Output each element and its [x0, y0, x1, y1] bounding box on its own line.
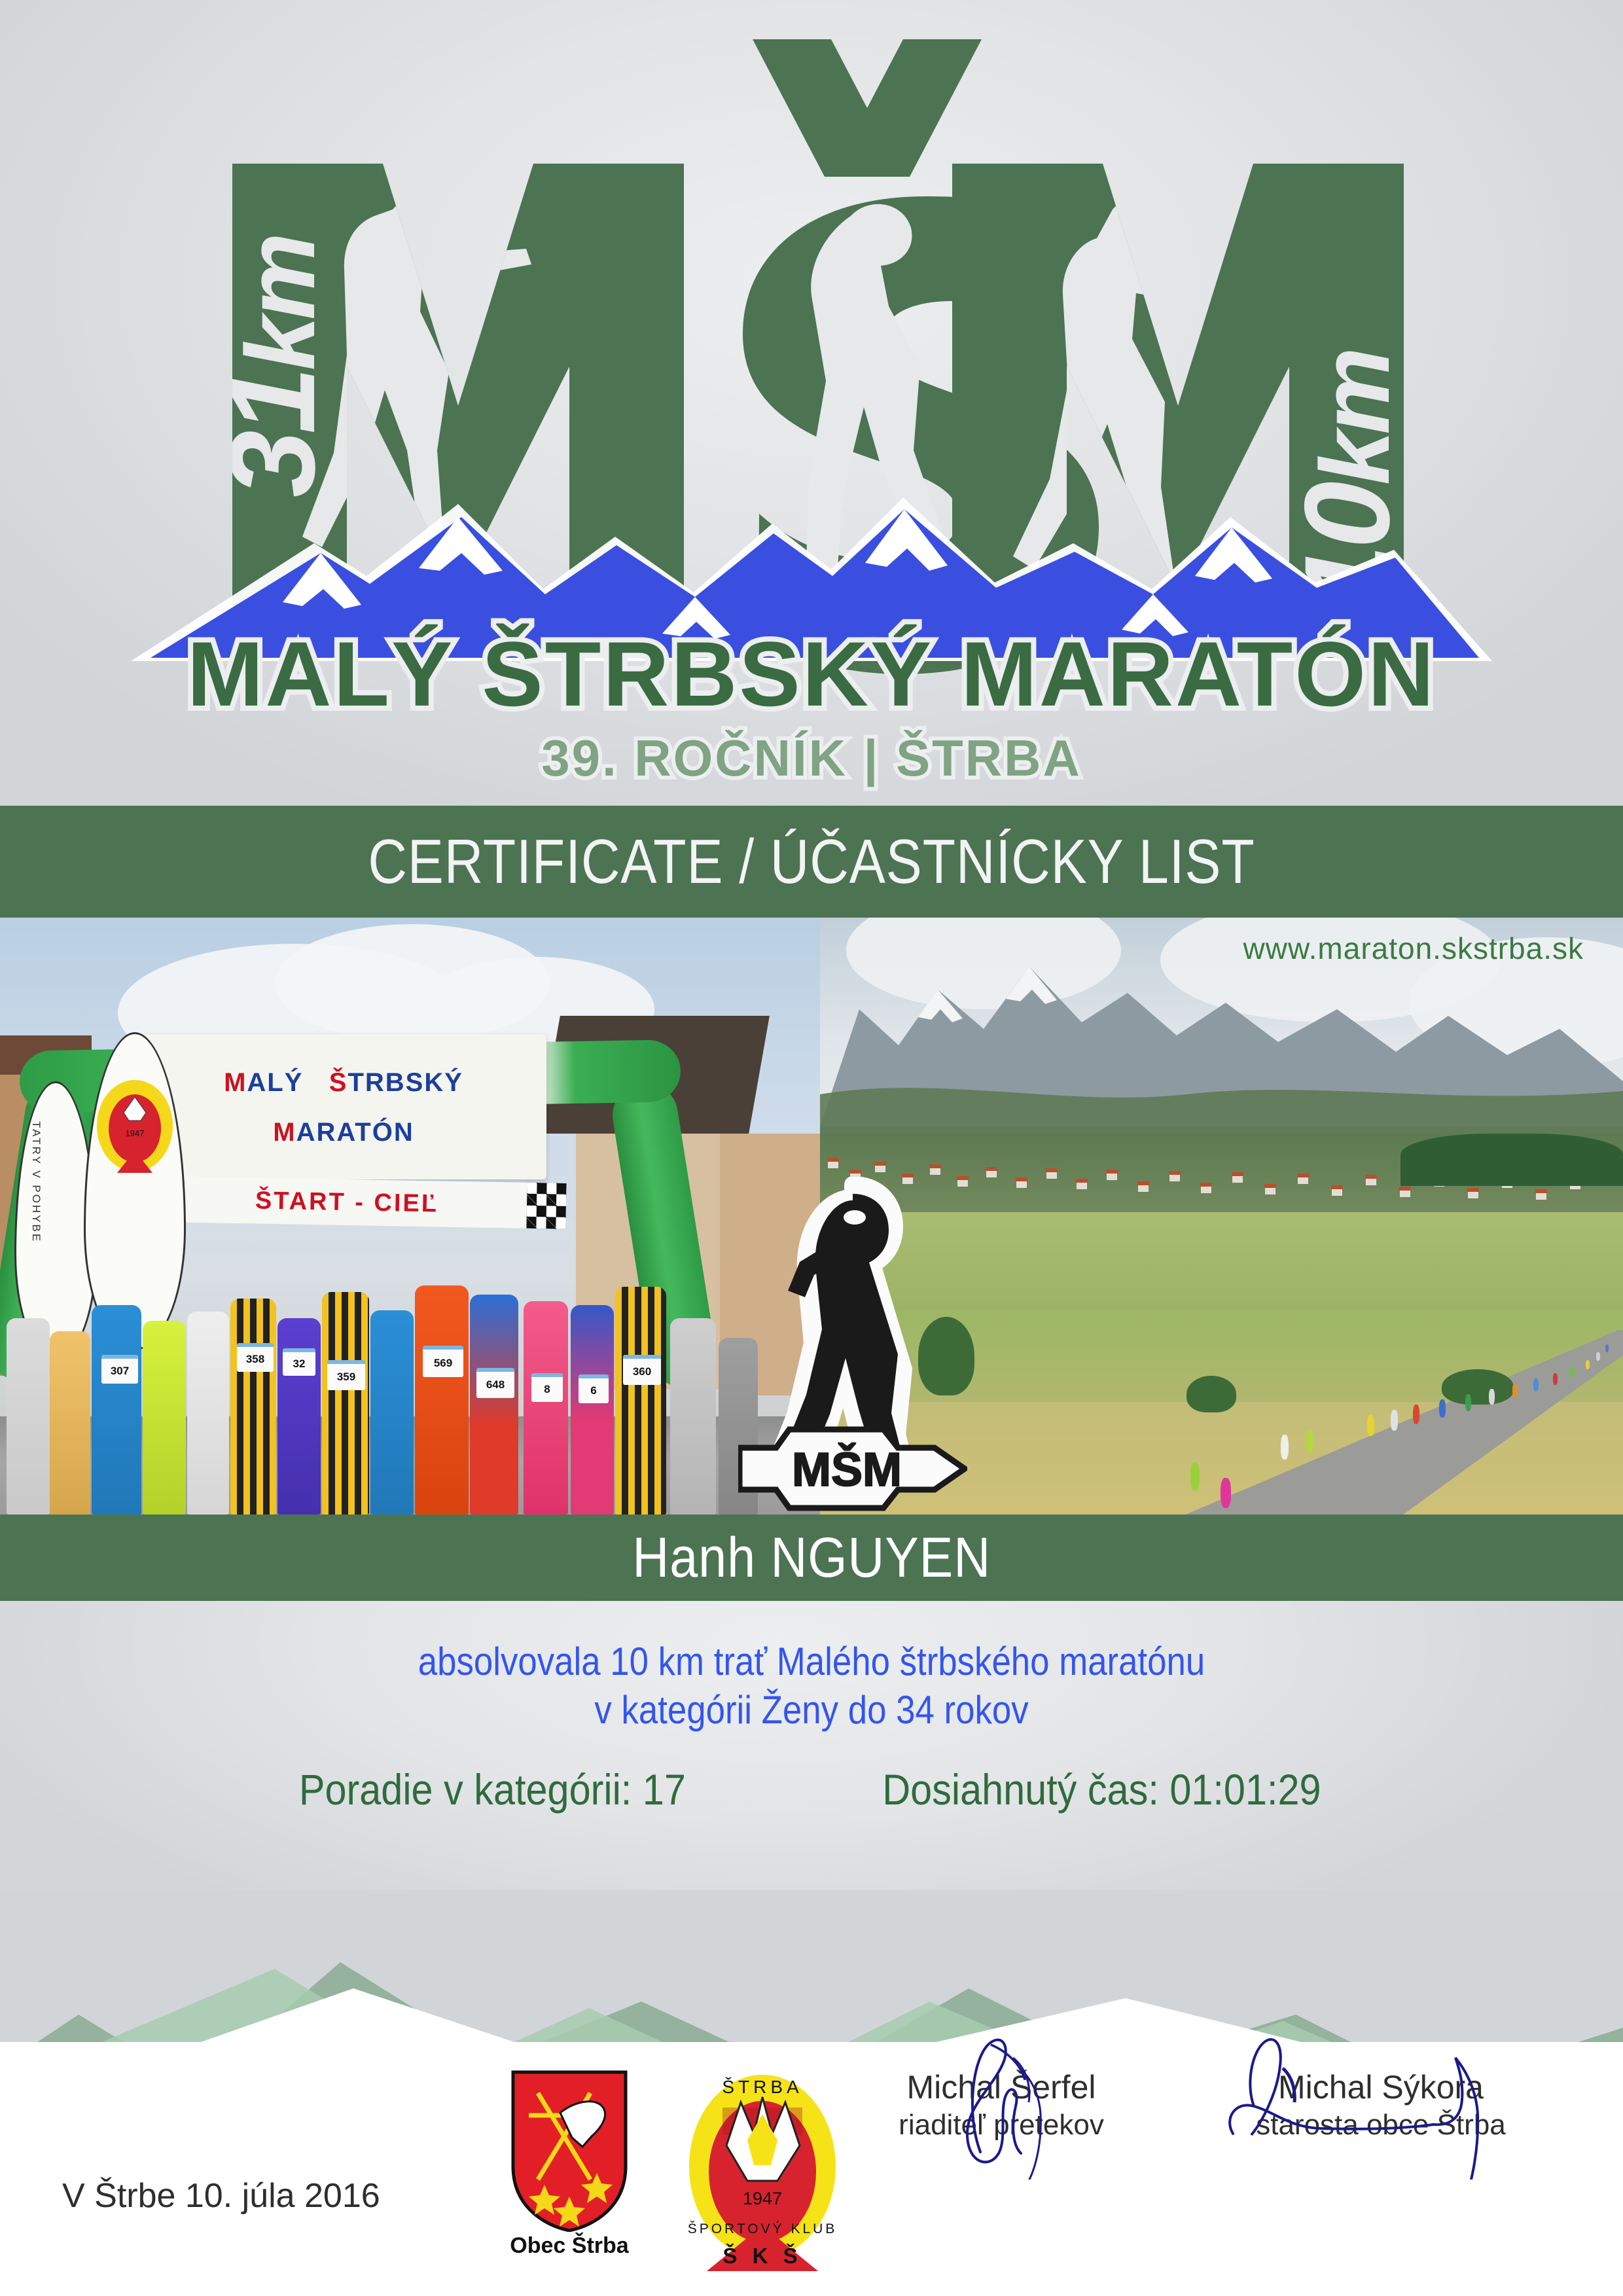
start-finish-banner: ŠTART - CIEĽ [127, 1175, 566, 1229]
bib-32: 32 [283, 1348, 315, 1376]
sks-club-logo: ŠTRBA 1947 ŠPORTOVÝ KLUB Š K Š [681, 2062, 844, 2271]
svg-text:31km: 31km [205, 236, 340, 497]
sks-logo-icon: ŠTRBA 1947 ŠPORTOVÝ KLUB Š K Š [681, 2062, 844, 2271]
certificate-title-bar: CERTIFICATE / ÚČASTNÍCKY LIST [0, 806, 1623, 918]
time-result: Dosiahnutý čas: 01:01:29 [882, 1765, 1321, 1814]
achievement-line-1: absolvovala 10 km trať Malého štrbského … [98, 1639, 1525, 1684]
club-top-text: ŠTRBA [722, 2077, 802, 2097]
signature-icon-director [851, 2029, 1152, 2179]
bib-358: 358 [237, 1343, 274, 1372]
club-year: 1947 [743, 2189, 782, 2208]
signature-block-mayor: Michal Sýkora starosta obce Štrba [1217, 2068, 1544, 2142]
bib-8: 8 [531, 1373, 563, 1402]
bib-6: 6 [579, 1374, 609, 1403]
results-row: Poradie v kategórii: 17 Dosiahnutý čas: … [0, 1765, 1623, 1814]
bib-569: 569 [423, 1346, 463, 1377]
participant-name-bar: Hanh NGUYEN [0, 1515, 1623, 1601]
start-finish-text: ŠTART - CIEĽ [255, 1187, 439, 1218]
bib-648: 648 [476, 1368, 514, 1398]
issue-date: V Štrbe 10. júla 2016 [62, 2176, 380, 2215]
coat-of-arms-icon [504, 2068, 635, 2232]
header-logo-band: 31km 10km [0, 0, 1623, 806]
rank-result: Poradie v kategórii: 17 [299, 1765, 686, 1814]
result-body: absolvovala 10 km trať Malého štrbského … [0, 1601, 1623, 1890]
msm-runner-cutout: MŠM [738, 1177, 967, 1515]
arch-banner: MALÝ ŠTRBSKÝ MARATÓN [141, 1034, 546, 1179]
logo-subtitle: 39. ROČNÍK | ŠTRBA [541, 729, 1082, 787]
club-arc-text: ŠPORTOVÝ KLUB [688, 2221, 838, 2236]
obec-strba-crest: Obec Štrba [504, 2068, 635, 2265]
svg-text:1947: 1947 [126, 1128, 145, 1138]
certificate-title: CERTIFICATE / ÚČASTNÍCKY LIST [368, 826, 1255, 898]
signature-icon-mayor [1217, 2029, 1544, 2179]
msm-sticker-label: MŠM [792, 1443, 902, 1496]
logo-title: MALÝ ŠTRBSKÝ MARATÓN [187, 622, 1436, 725]
achievement-line-2: v kategórii Ženy do 34 rokov [98, 1687, 1525, 1732]
runner-crowd: 307 358 32 359 569 648 8 6 360 [0, 1233, 820, 1515]
signature-block-director: Michal Šerfel riaditeľ pretekov [851, 2068, 1152, 2142]
certificate-page: 31km 10km [0, 0, 1623, 2296]
bib-360: 360 [623, 1355, 661, 1385]
footer: V Štrbe 10. júla 2016 Obec Štrba [0, 2042, 1623, 2296]
website-url[interactable]: www.maraton.skstrba.sk [1243, 931, 1584, 966]
club-initials: Š K Š [722, 2243, 802, 2268]
crest-caption: Obec Štrba [504, 2233, 635, 2259]
start-arch-photo: MALÝ ŠTRBSKÝ MARATÓN ŠTART - CIEĽ TATRY … [0, 918, 820, 1515]
msm-logo-graphic: 31km 10km [0, 0, 1623, 806]
bib-359: 359 [327, 1360, 365, 1390]
participant-name: Hanh NGUYEN [632, 1526, 991, 1590]
bib-307: 307 [101, 1355, 138, 1384]
